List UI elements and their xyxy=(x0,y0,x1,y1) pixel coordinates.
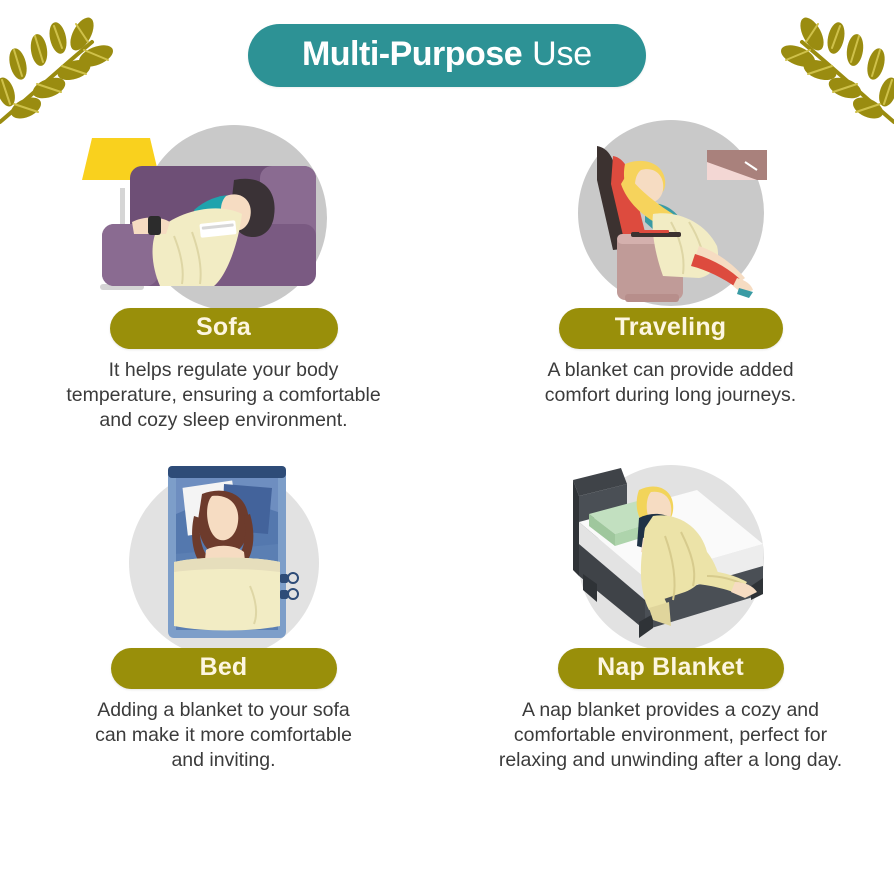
sofa-illustration xyxy=(74,118,374,308)
card-label-nap-blanket: Nap Blanket xyxy=(558,648,784,689)
feature-card-sofa: Sofa It helps regulate your body tempera… xyxy=(0,118,447,458)
traveling-illustration xyxy=(521,118,821,308)
card-description-bed: Adding a blanket to your sofa can make i… xyxy=(95,698,352,773)
card-description-sofa: It helps regulate your body temperature,… xyxy=(66,358,380,433)
card-label-bed: Bed xyxy=(111,648,337,689)
card-label-sofa: Sofa xyxy=(110,308,338,349)
card-label-traveling: Traveling xyxy=(559,308,783,349)
bed-illustration xyxy=(74,458,374,648)
feature-card-bed: Bed Adding a blanket to your sofa can ma… xyxy=(0,458,447,798)
feature-card-traveling: Traveling A blanket can provide added co… xyxy=(447,118,894,458)
card-description-traveling: A blanket can provide added comfort duri… xyxy=(545,358,796,408)
feature-card-nap-blanket: Nap Blanket A nap blanket provides a coz… xyxy=(447,458,894,798)
nap-blanket-illustration xyxy=(521,458,821,648)
feature-grid: Sofa It helps regulate your body tempera… xyxy=(0,118,894,798)
page-title-strong: Multi-Purpose xyxy=(302,37,522,71)
page-title-light: Use xyxy=(532,37,592,71)
page-header: Multi-Purpose Use xyxy=(0,24,894,87)
card-description-nap-blanket: A nap blanket provides a cozy and comfor… xyxy=(499,698,842,773)
page-title: Multi-Purpose Use xyxy=(248,24,646,87)
